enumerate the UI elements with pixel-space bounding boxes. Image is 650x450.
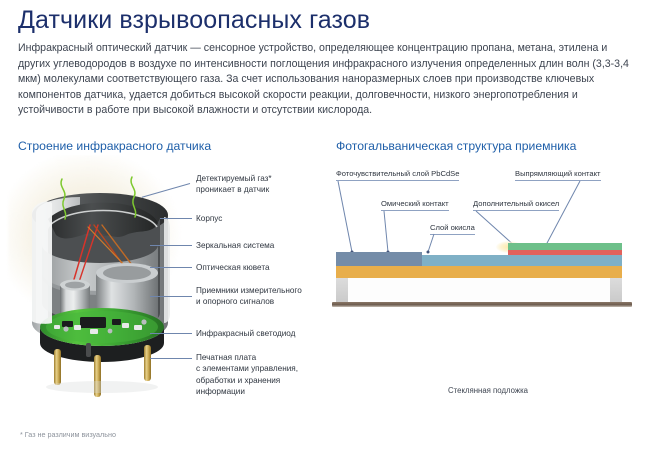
leader-line-receivers [150, 296, 192, 297]
label-receivers-line1: Приемники измерительного [196, 286, 302, 295]
label-receivers-line2: и опорного сигналов [196, 297, 274, 306]
label-mirror-system-line1: Зеркальная система [196, 241, 274, 250]
leader-line-ir-led [150, 333, 192, 334]
label-housing: Корпус [196, 213, 222, 224]
glass-substrate-right-edge [610, 278, 622, 304]
glass-substrate-front [348, 278, 610, 300]
label-pcb-line4: информации [196, 387, 245, 396]
intro-paragraph: Инфракрасный оптический датчик — сенсорн… [18, 41, 636, 119]
leader-line-pcb [150, 358, 192, 359]
section-header-right: Фотогальваническая структура приемника [336, 139, 576, 153]
intro-text: Инфракрасный оптический датчик — сенсорн… [18, 41, 636, 119]
label-pcb: Печатная плата с элементами управления, … [196, 352, 298, 398]
ir-sensor-illustration [18, 173, 186, 398]
leader-line-cuvette [150, 267, 192, 268]
surface-edge [332, 302, 632, 307]
label-housing-line1: Корпус [196, 214, 222, 223]
left-diagram-panel: Детектируемый газ* проникает в датчик Ко… [0, 155, 330, 445]
label-optical-cuvette: Оптическая кювета [196, 262, 270, 273]
label-ir-led-line1: Инфракрасный светодиод [196, 329, 295, 338]
leader-line-housing [160, 218, 192, 219]
layer-extra-oxide [336, 266, 622, 278]
label-mirror-system: Зеркальная система [196, 240, 274, 251]
label-detected-gas-line2: проникает в датчик [196, 185, 269, 194]
label-optical-cuvette-line1: Оптическая кювета [196, 263, 270, 272]
label-pcb-line3: обработки и хранения [196, 376, 280, 385]
label-pcb-line1: Печатная плата [196, 353, 256, 362]
glass-substrate-caption: Стеклянная подложка [448, 386, 528, 395]
label-ir-led: Инфракрасный светодиод [196, 328, 295, 339]
page-title: Датчики взрывоопасных газов [18, 4, 370, 36]
label-detected-gas-line1: Детектируемый газ* [196, 174, 272, 183]
cross-section-stack: Стеклянная подложка [336, 240, 636, 302]
layer-ohmic-contact [336, 252, 422, 266]
footnote: * Газ не различим визуально [20, 430, 116, 439]
layer-photosensitive-green [508, 243, 622, 250]
label-receivers: Приемники измерительного и опорного сигн… [196, 285, 302, 308]
label-detected-gas: Детектируемый газ* проникает в датчик [196, 173, 272, 196]
slide-root: Датчики взрывоопасных газов Инфракрасный… [0, 0, 650, 450]
glass-substrate-left-edge [336, 278, 348, 304]
leader-line-mirror [150, 245, 192, 246]
right-diagram-panel: Фоточувствительный слой PbCdSe Выпрямляю… [330, 155, 650, 445]
section-header-left: Строение инфракрасного датчика [18, 139, 211, 153]
label-pcb-line2: с элементами управления, [196, 364, 298, 373]
